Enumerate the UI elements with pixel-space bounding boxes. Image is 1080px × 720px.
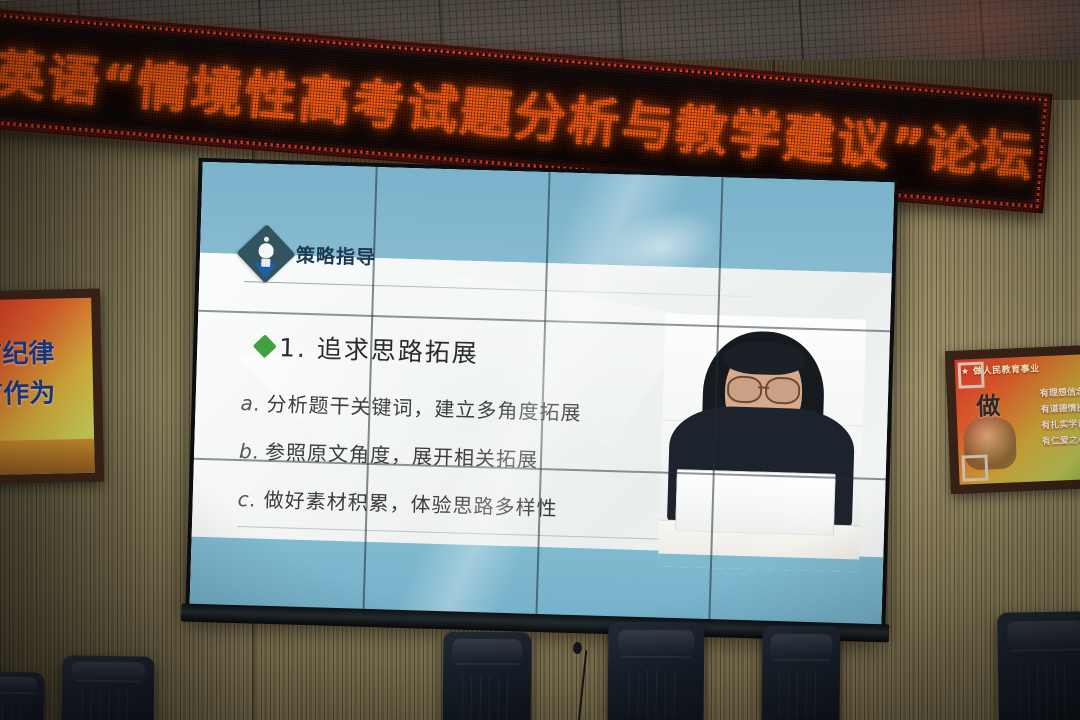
conference-chair bbox=[443, 632, 532, 720]
poster-left-line-1: 有纪律 bbox=[0, 333, 55, 372]
slide-section-title: 策略指导 bbox=[296, 241, 377, 270]
poster-left-soil-graphic bbox=[0, 439, 95, 475]
poster-right-line: 有道德情操 bbox=[1040, 400, 1080, 415]
poster-right: ★ 做人民教育事业 做 有理想信念 有道德情操 有扎实学识 有仁爱之心 bbox=[945, 345, 1080, 494]
conference-chair bbox=[61, 655, 154, 720]
slide-list-marker: a. bbox=[240, 391, 267, 416]
green-diamond-bullet-icon bbox=[253, 334, 277, 358]
poster-right-line: 有仁爱之心 bbox=[1042, 432, 1080, 447]
slide-list-marker: c. bbox=[237, 487, 264, 512]
conference-chair bbox=[997, 611, 1080, 720]
slide-heading: 1. 追求思路拓展 bbox=[256, 328, 480, 371]
poster-right-line: 有理想信念 bbox=[1040, 384, 1080, 399]
presentation-slide: 策略指导 1. 追求思路拓展 a.分析题干关键词，建立多角度拓展 b.参照原文角… bbox=[190, 162, 895, 626]
poster-right-line: 有扎实学识 bbox=[1041, 416, 1080, 431]
slide-section-header: 策略指导 bbox=[244, 232, 376, 278]
microphone-head bbox=[573, 642, 582, 654]
conference-chair bbox=[0, 671, 45, 720]
conference-chair bbox=[608, 622, 705, 720]
lightbulb-diamond-icon bbox=[244, 232, 287, 275]
poster-left-line-2: 有作为 bbox=[0, 373, 56, 412]
conference-chair bbox=[762, 626, 841, 720]
slide-list-text: 分析题干关键词，建立多角度拓展 bbox=[266, 392, 582, 425]
conference-hall-photo: 英语“情境性高考试题分析与教学建议”论坛 有纪律 有作为 ★ 做人民教育事业 做… bbox=[0, 0, 1080, 720]
slide-list-text: 参照原文角度，展开相关拓展 bbox=[265, 440, 539, 472]
slide-heading-text: 1. 追求思路拓展 bbox=[279, 328, 480, 370]
poster-left: 有纪律 有作为 bbox=[0, 289, 104, 485]
laptop-icon bbox=[675, 469, 835, 536]
glasses-icon bbox=[727, 376, 800, 401]
presenter-video-feed bbox=[658, 313, 866, 572]
video-wall[interactable]: 策略指导 1. 追求思路拓展 a.分析题干关键词，建立多角度拓展 b.参照原文角… bbox=[185, 158, 898, 631]
poster-right-calligraphy: 做 bbox=[976, 386, 1001, 422]
video-wall-screen[interactable]: 策略指导 1. 追求思路拓展 a.分析题干关键词，建立多角度拓展 b.参照原文角… bbox=[190, 162, 895, 626]
slide-list-marker: b. bbox=[239, 439, 266, 464]
